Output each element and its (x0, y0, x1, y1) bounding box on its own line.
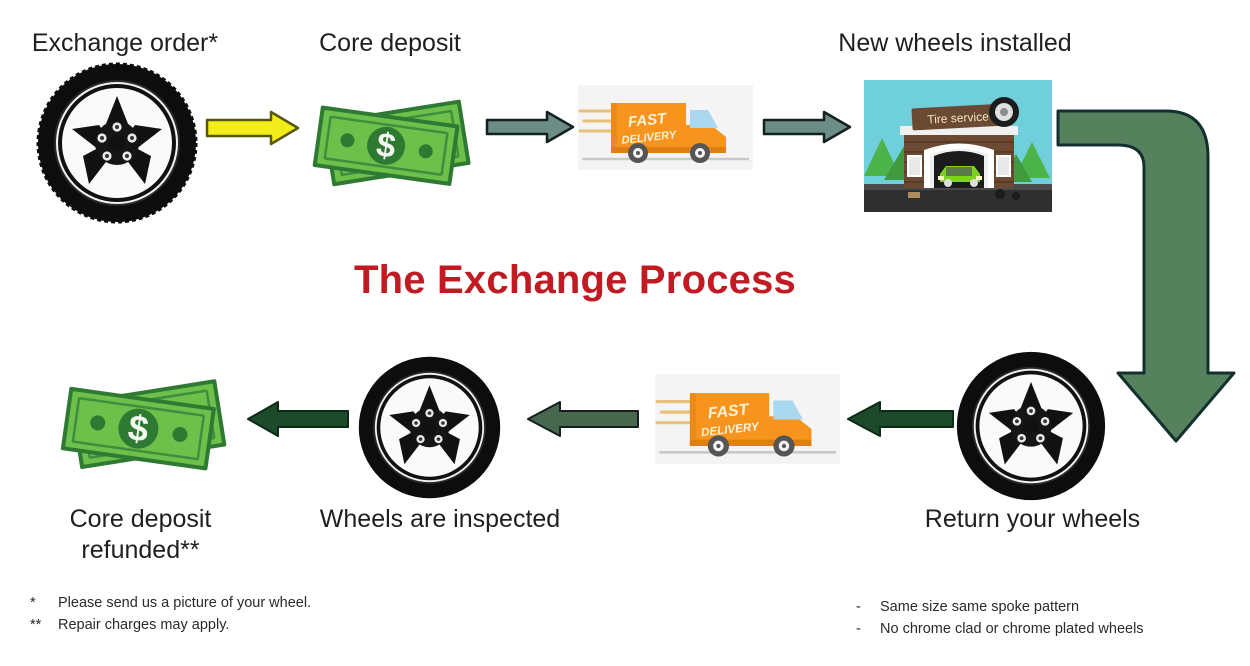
money-icon-refund: $ $ (58, 352, 238, 492)
footnote-mark: ** (30, 614, 48, 636)
wheel-icon-inspected (357, 355, 502, 500)
delivery-truck-icon: FAST DELIVERY (578, 85, 753, 170)
arrow-return-to-shipping (845, 400, 955, 438)
label-wheels-inspected: Wheels are inspected (300, 504, 580, 535)
arrow-shipping-to-inspected (525, 400, 640, 438)
money-icon: $ $ (310, 72, 480, 207)
footnote-mark: - (856, 618, 870, 640)
arrow-deposit-to-shipping (485, 110, 575, 144)
footnote-mark: * (30, 592, 48, 614)
footnote-text: Repair charges may apply. (58, 614, 229, 636)
label-exchange-order: Exchange order* (10, 28, 240, 59)
wheel-icon (36, 62, 198, 224)
footnote-text: Same size same spoke pattern (880, 596, 1079, 618)
wheel-icon-return (955, 350, 1107, 502)
arrow-exchange-to-deposit (205, 110, 300, 146)
delivery-truck-icon-return: FAST DELIVERY (655, 370, 840, 468)
page-title: The Exchange Process (0, 258, 1150, 303)
label-core-deposit-refunded: Core deposit refunded** (28, 504, 253, 565)
label-return-your-wheels: Return your wheels (900, 504, 1165, 535)
arrow-shipping-to-install (762, 110, 852, 144)
footnotes-left: * Please send us a picture of your wheel… (30, 592, 450, 637)
footnote-text: No chrome clad or chrome plated wheels (880, 618, 1144, 640)
footnote-right-2: - No chrome clad or chrome plated wheels (856, 618, 1246, 640)
tire-service-garage-icon: Tire service (864, 80, 1052, 212)
footnote-right-1: - Same size same spoke pattern (856, 596, 1246, 618)
footnotes-right: - Same size same spoke pattern - No chro… (856, 596, 1246, 641)
footnote-left-2: ** Repair charges may apply. (30, 614, 450, 636)
label-new-wheels-installed: New wheels installed (810, 28, 1100, 59)
label-core-deposit: Core deposit (290, 28, 490, 59)
arrow-inspected-to-refund (245, 400, 350, 438)
footnote-mark: - (856, 596, 870, 618)
footnote-left-1: * Please send us a picture of your wheel… (30, 592, 450, 614)
exchange-process-diagram: Exchange order* Core deposit New wheels … (0, 0, 1250, 666)
footnote-text: Please send us a picture of your wheel. (58, 592, 311, 614)
